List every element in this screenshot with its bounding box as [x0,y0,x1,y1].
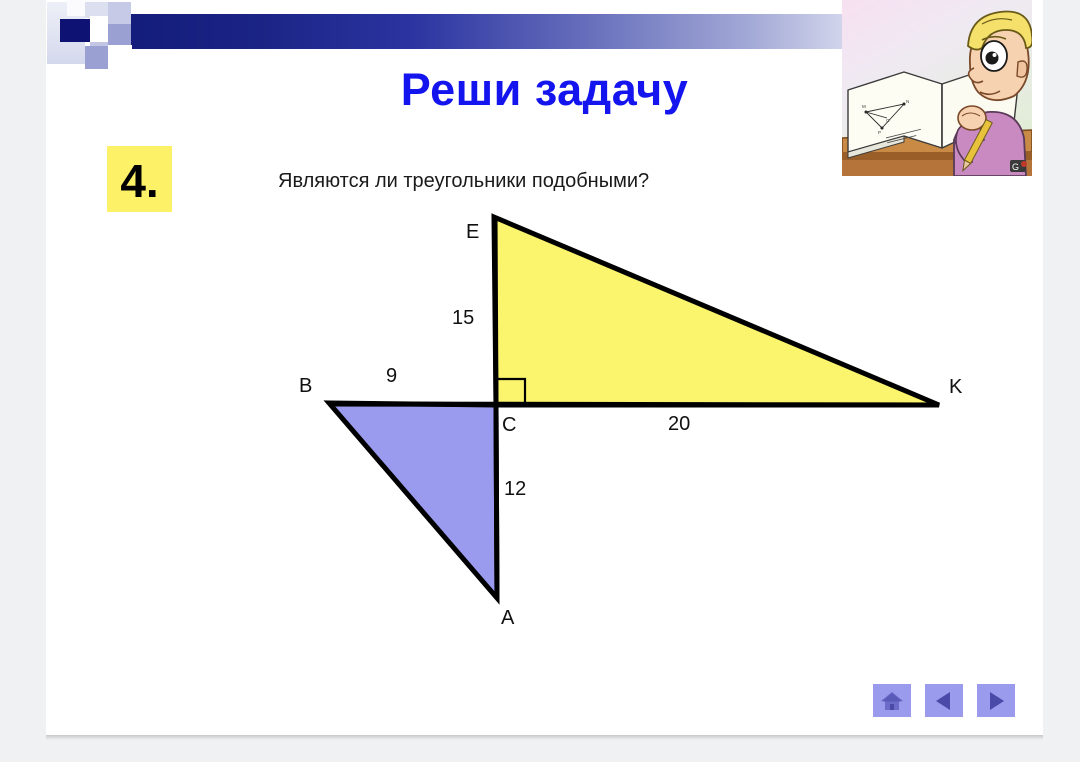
boy-thinking-over-book-icon: M N P O [842,0,1032,176]
decor-square-dark-navy [60,19,90,42]
home-icon [880,690,904,712]
svg-text:M: M [862,104,866,109]
segment-bk [329,404,939,405]
triangle-eck-fill [494,217,939,405]
slide-canvas: Реши задачу 4. Являются ли треугольники … [46,0,1043,735]
screen: Реши задачу 4. Являются ли треугольники … [0,0,1080,762]
home-button[interactable] [873,684,911,717]
decor-square-mid-periwinkle-a [108,24,131,45]
triangle-bca-fill [329,403,497,598]
side-label-15: 15 [452,307,474,330]
svg-text:O: O [886,118,890,123]
side-label-9: 9 [386,365,397,388]
decor-square-light-lavender-b [108,2,131,24]
next-button[interactable] [977,684,1015,717]
question-text: Являются ли треугольники подобными? [278,170,649,193]
vertex-label-b: B [299,375,312,398]
svg-text:P: P [878,130,881,135]
vertex-label-c: C [502,414,516,437]
cartoon-illustration: M N P O [842,0,1032,176]
vertex-label-k: K [949,376,962,399]
header-gradient-band [121,14,888,49]
svg-text:N: N [906,99,909,104]
vertex-label-a: A [501,607,514,630]
diagram-svg [46,195,1043,655]
decor-square-white-gap [90,16,108,42]
previous-button[interactable] [925,684,963,717]
side-label-20: 20 [668,413,690,436]
arrow-right-icon [985,690,1007,712]
side-label-12: 12 [504,478,526,501]
two-triangles-diagram: E C K B A 15 9 20 12 [46,195,1043,655]
watermark-icon: G [1010,160,1027,172]
slide-shadow [46,735,1043,740]
svg-text:G: G [1012,162,1019,172]
arrow-left-icon [933,690,955,712]
vertex-label-e: E [466,221,479,244]
segment-ea [495,217,497,598]
